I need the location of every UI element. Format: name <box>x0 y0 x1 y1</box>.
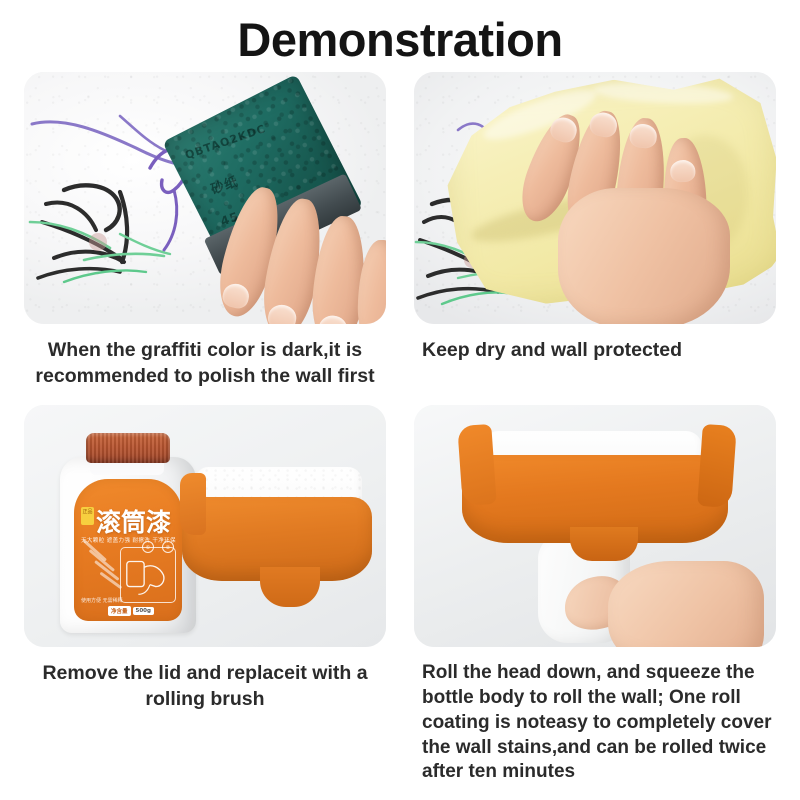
bottle-cap <box>86 433 170 463</box>
label-footer-text: 使用方便 无需稀释 <box>81 597 123 604</box>
palm <box>608 561 764 647</box>
fingernail <box>547 114 580 145</box>
roller-arm <box>697 424 737 508</box>
caption-keep-dry: Keep dry and wall protected <box>414 324 776 364</box>
sponge-print-line1: QBTAO2KDC <box>183 122 267 162</box>
panel-roll-wall: Roll the head down, and squeeze the bott… <box>414 405 776 784</box>
photo-keep-dry <box>414 72 776 324</box>
roller-brush-head <box>462 431 732 561</box>
photo-roll-wall <box>414 405 776 647</box>
page-title: Demonstration <box>0 0 800 72</box>
label-weight-group: 净含量 500g <box>108 606 154 616</box>
caption-roll-wall: Roll the head down, and squeeze the bott… <box>414 647 776 784</box>
fingernail <box>220 281 251 311</box>
fingernail <box>629 123 658 149</box>
photo-replace-lid: 正品 滚筒漆 无大颗粒 遮盖力强 耐擦洗 干净环保 ① ② 使用方便 无需稀 <box>24 405 386 647</box>
roller-arm <box>180 473 206 535</box>
fingernail <box>318 314 348 324</box>
caption-replace-lid: Remove the lid and replaceit with a roll… <box>24 647 386 712</box>
label-brand-badge: 正品 <box>81 507 94 525</box>
roller-brush-head <box>182 467 372 617</box>
fingernail <box>266 303 298 324</box>
paint-bottle: 正品 滚筒漆 无大颗粒 遮盖力强 耐擦洗 干净环保 ① ② 使用方便 无需稀 <box>60 433 196 633</box>
fingernail <box>670 160 696 183</box>
palm <box>558 188 730 324</box>
photo-polish-wall: QBTAO2KDC 砂纸 45 <box>24 72 386 324</box>
hand-wiping-wall <box>518 110 738 324</box>
caption-polish-wall: When the graffiti color is dark,it is re… <box>24 324 386 389</box>
product-label: 正品 滚筒漆 无大颗粒 遮盖力强 耐擦洗 干净环保 ① ② 使用方便 无需稀 <box>74 479 182 621</box>
label-weight-caption: 净含量 <box>108 606 131 616</box>
label-usage-illustration <box>120 547 176 603</box>
label-main-text: 滚筒漆 <box>96 503 171 539</box>
hand-holding-sponge <box>220 180 386 324</box>
cap-ridges <box>86 433 170 463</box>
label-weight-value: 500g <box>133 607 154 615</box>
roller-stem <box>260 567 320 607</box>
roller-arm <box>457 424 496 506</box>
fingernail <box>365 322 386 324</box>
demonstration-grid: QBTAO2KDC 砂纸 45 <box>0 72 800 785</box>
fingernail <box>588 110 619 139</box>
panel-replace-lid: 正品 滚筒漆 无大颗粒 遮盖力强 耐擦洗 干净环保 ① ② 使用方便 无需稀 <box>24 405 386 784</box>
panel-polish-wall: QBTAO2KDC 砂纸 45 <box>24 72 386 389</box>
panel-keep-dry: Keep dry and wall protected <box>414 72 776 389</box>
hand-squeezing-bottle <box>564 555 764 647</box>
